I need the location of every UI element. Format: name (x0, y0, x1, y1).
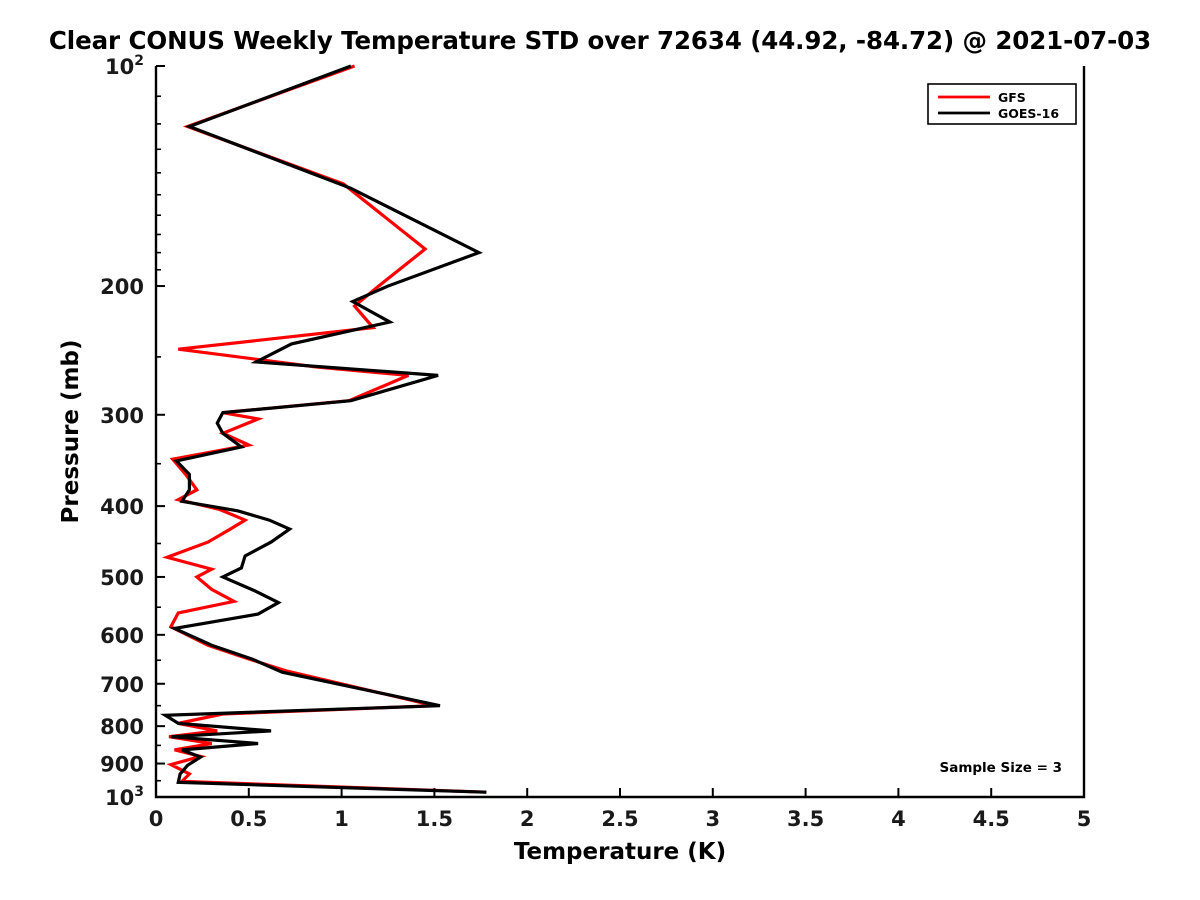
x-tick-label: 4 (891, 807, 906, 831)
x-tick-label: 1 (334, 807, 349, 831)
y-tick-label: 400 (100, 495, 144, 519)
chart-figure: Clear CONUS Weekly Temperature STD over … (0, 0, 1200, 900)
legend-label-gfs: GFS (998, 90, 1026, 105)
x-tick-label: 3.5 (787, 807, 824, 831)
x-tick-label: 0 (149, 807, 164, 831)
x-tick-label: 1.5 (416, 807, 453, 831)
y-tick-label: 800 (100, 715, 144, 739)
y-tick-label: 900 (100, 753, 144, 777)
y-tick-label: 102 (105, 53, 144, 79)
data-series-group (165, 66, 486, 792)
x-tick-label: 2 (520, 807, 535, 831)
y-tick-label: 600 (100, 624, 144, 648)
y-tick-label: 700 (100, 673, 144, 697)
sample-size-label: Sample Size = 3 (939, 760, 1062, 776)
sample-size-annotation: Sample Size = 3 (939, 760, 1062, 776)
chart-legend: GFSGOES-16 (928, 84, 1076, 124)
x-tick-label: 5 (1077, 807, 1092, 831)
x-tick-label: 3 (705, 807, 720, 831)
x-tick-label: 2.5 (601, 807, 638, 831)
axis-spines (156, 66, 1084, 797)
y-tick-label: 200 (100, 275, 144, 299)
x-tick-label: 4.5 (973, 807, 1010, 831)
legend-label-goes-16: GOES-16 (998, 106, 1059, 121)
y-tick-label: 300 (100, 404, 144, 428)
y-tick-label: 500 (100, 566, 144, 590)
series-line-goes-16 (165, 66, 486, 792)
x-tick-label: 0.5 (230, 807, 267, 831)
y-tick-label: 103 (105, 784, 144, 810)
x-axis-label: Temperature (K) (514, 839, 726, 865)
plot-canvas: 00.511.522.533.544.551022003004005006007… (0, 0, 1200, 900)
axes-group: 00.511.522.533.544.551022003004005006007… (58, 53, 1091, 865)
y-axis-label: Pressure (mb) (58, 340, 84, 524)
